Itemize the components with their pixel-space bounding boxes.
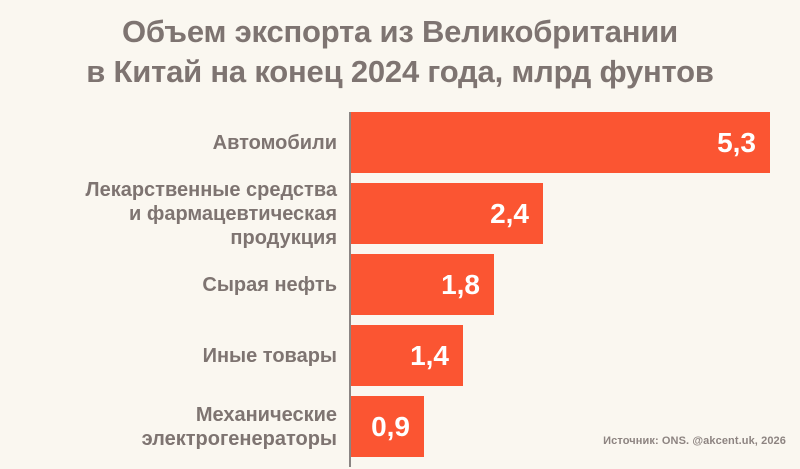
bar-row: Иные товары 1,4 — [0, 325, 800, 386]
bar-row: Лекарственные средства и фармацевтическа… — [0, 183, 800, 244]
category-label-line: электрогенераторы — [142, 427, 337, 451]
category-label-line: Лекарственные средства — [86, 178, 337, 202]
category-label-line: Автомобили — [213, 131, 337, 155]
bar-value-generators: 0,9 — [371, 413, 410, 441]
category-label-automobiles: Автомобили — [7, 112, 337, 173]
category-label-line: и фармацевтическая — [86, 202, 337, 226]
bar-row: Автомобили 5,3 — [0, 112, 800, 173]
category-label-line: Сырая нефть — [202, 273, 337, 297]
bar-value-automobiles: 5,3 — [717, 129, 756, 157]
category-label-pharmaceuticals: Лекарственные средства и фармацевтическа… — [7, 183, 337, 244]
category-label-crude-oil: Сырая нефть — [7, 254, 337, 315]
bar-pharmaceuticals: 2,4 — [351, 183, 543, 244]
bar-value-pharmaceuticals: 2,4 — [490, 200, 529, 228]
bar-generators: 0,9 — [351, 396, 424, 457]
category-label-line: продукция — [86, 226, 337, 250]
source-attribution: Источник: ONS. @akcent.uk, 2026 — [603, 435, 786, 447]
chart-page: Объем экспорта из Великобритании в Китай… — [0, 0, 800, 469]
page-title-line-1: Объем экспорта из Великобритании — [0, 12, 800, 52]
category-label-line: Иные товары — [203, 344, 337, 368]
page-title: Объем экспорта из Великобритании в Китай… — [0, 12, 800, 92]
bar-row: Механические электрогенераторы 0,9 — [0, 396, 800, 457]
bar-crude-oil: 1,8 — [351, 254, 494, 315]
category-label-line: Механические — [142, 403, 337, 427]
category-label-other-goods: Иные товары — [7, 325, 337, 386]
bar-other-goods: 1,4 — [351, 325, 463, 386]
page-title-line-2: в Китай на конец 2024 года, млрд фунтов — [0, 52, 800, 92]
bar-value-other-goods: 1,4 — [410, 342, 449, 370]
category-label-generators: Механические электрогенераторы — [7, 396, 337, 457]
bar-value-crude-oil: 1,8 — [441, 271, 480, 299]
bar-automobiles: 5,3 — [351, 112, 770, 173]
bar-row: Сырая нефть 1,8 — [0, 254, 800, 315]
bar-rows: Автомобили 5,3 Лекарственные средства и … — [0, 112, 800, 457]
bar-chart: Автомобили 5,3 Лекарственные средства и … — [0, 105, 800, 465]
